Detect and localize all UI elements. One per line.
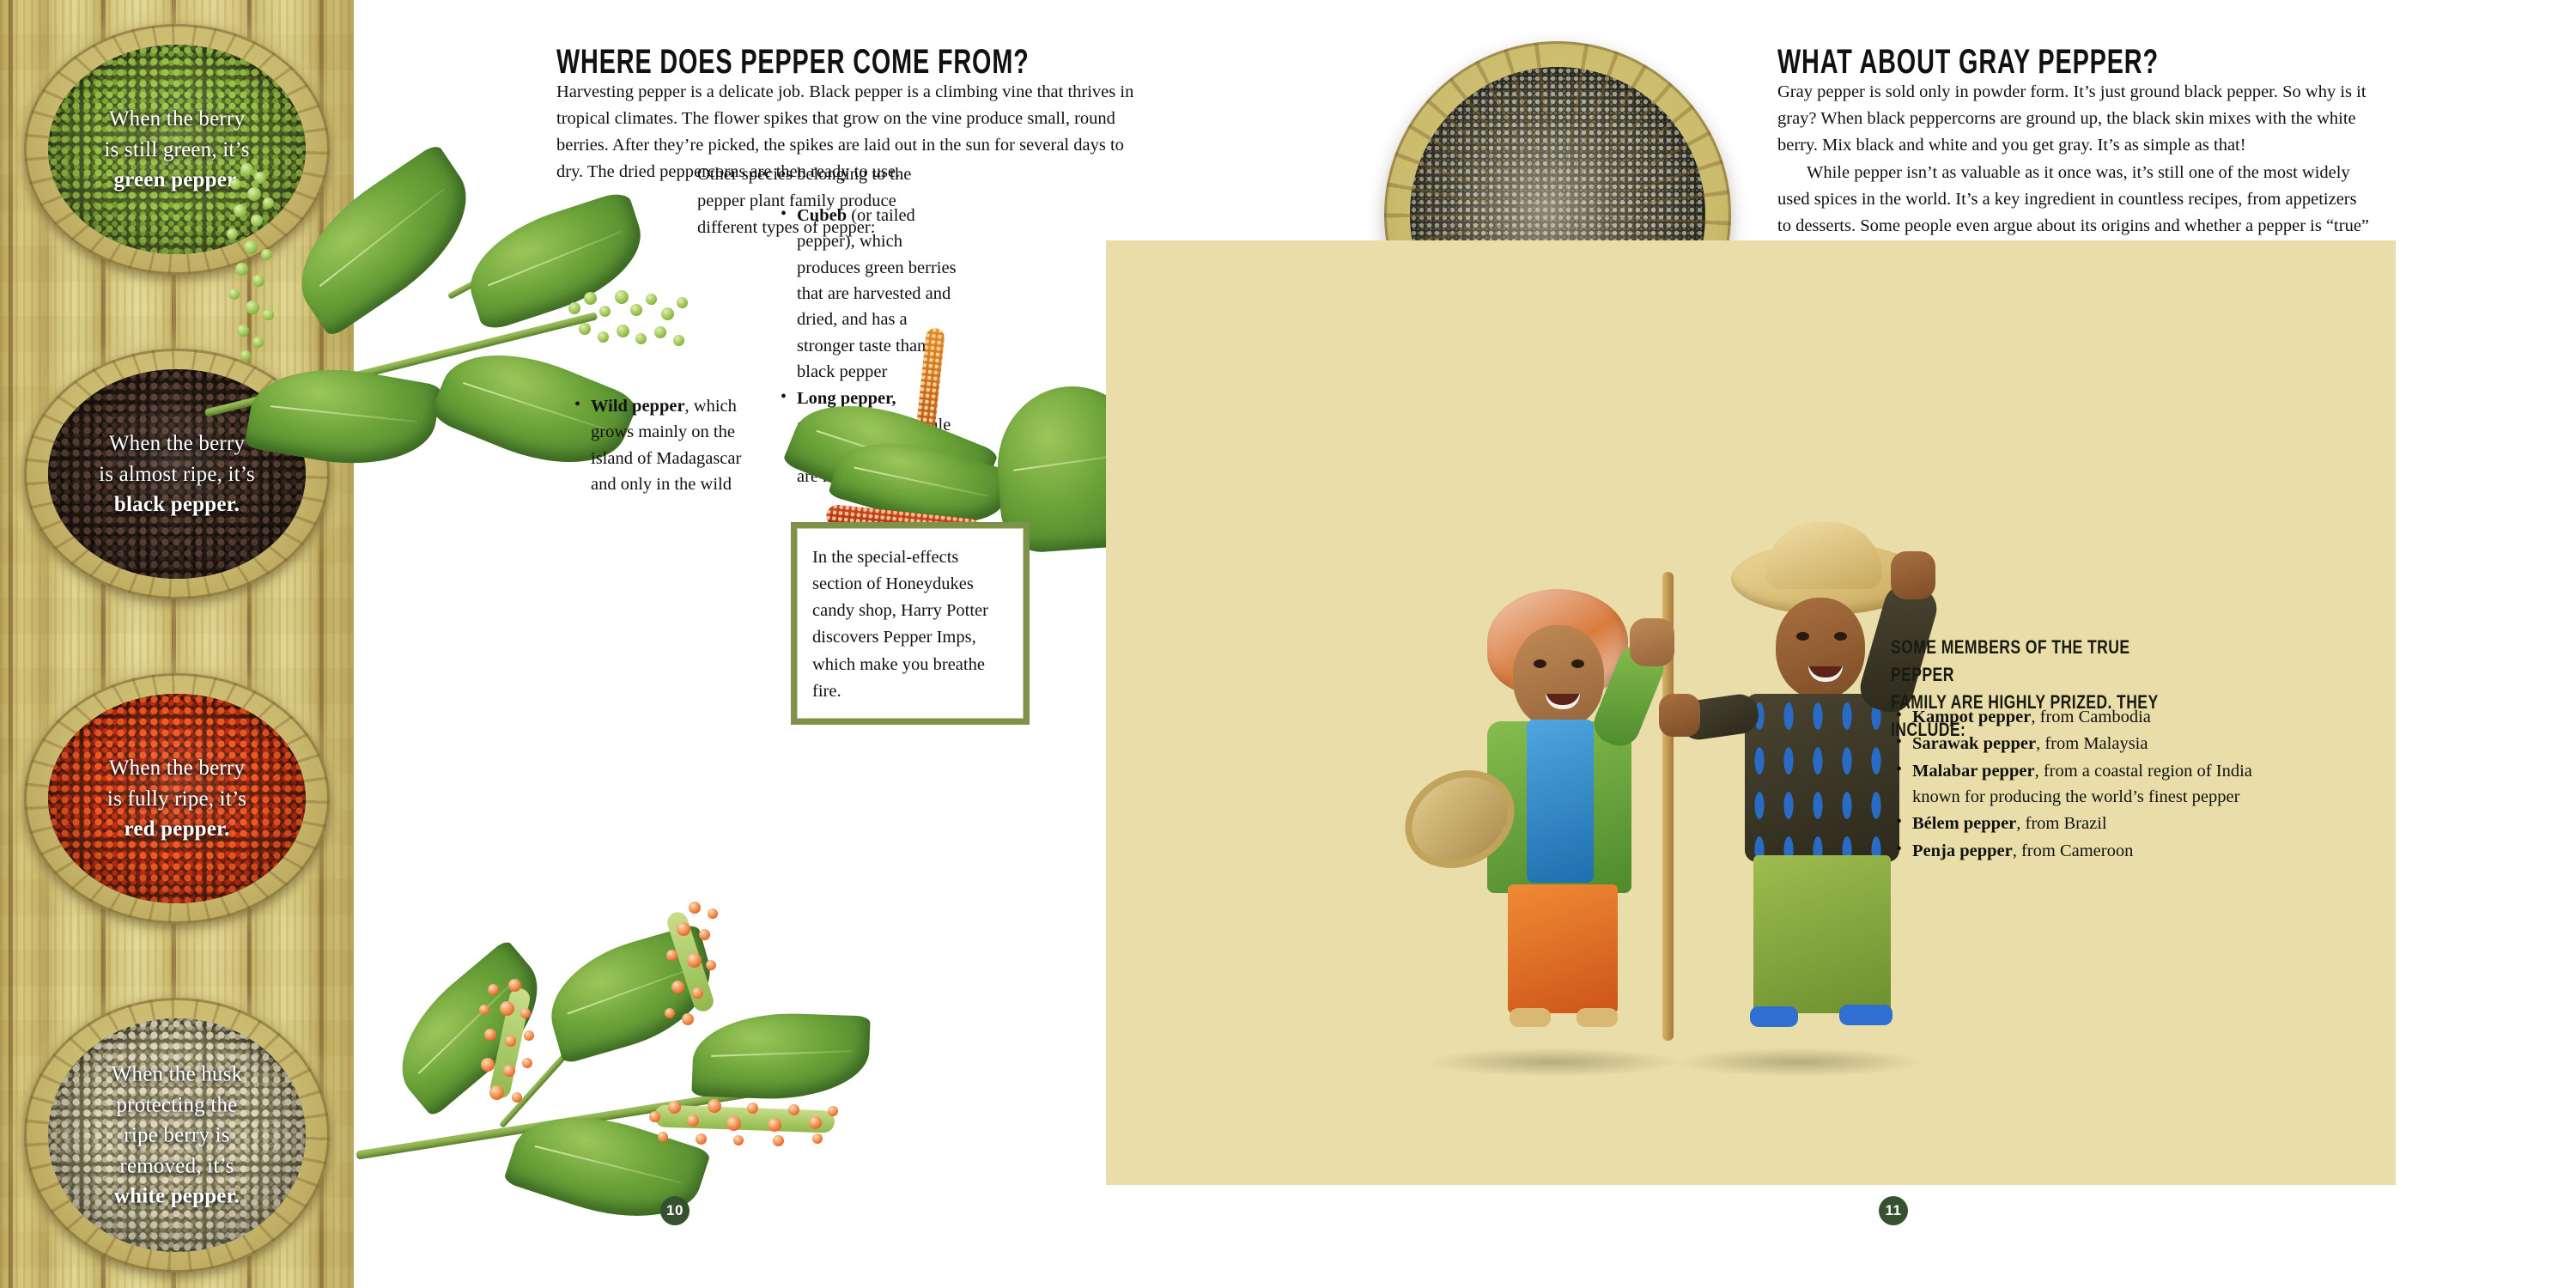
caption-line-2: is still green, it’s	[104, 137, 249, 161]
page-number-left: 10	[660, 1196, 690, 1225]
page-number-value: 10	[666, 1202, 683, 1219]
caption-bold: green pepper.	[113, 168, 240, 191]
sandal	[1577, 1008, 1618, 1027]
caption-line-2: is fully ripe, it’s	[107, 787, 246, 810]
panel-heading-line-1: SOME MEMBERS OF THE TRUE PEPPER	[1891, 636, 2130, 685]
page-number-right: 11	[1879, 1196, 1908, 1225]
page-title-what-about-gray-pepper: WHAT ABOUT GRAY PEPPER?	[1777, 43, 2159, 82]
blue-sandal	[1839, 1005, 1893, 1025]
wild-pepper-plant-illustration	[216, 859, 869, 1236]
wild-pepper-berries	[644, 1097, 850, 1147]
list-item: Wild pepper, which grows mainly on the i…	[572, 393, 769, 497]
red-pepper-caption: When the berry is fully ripe, it’s red p…	[24, 753, 330, 845]
blue-sandal	[1750, 1006, 1798, 1027]
book-spread: When the berry is still green, it’s gree…	[0, 0, 2576, 1288]
fact-box-text: In the special-effects section of Honeyd…	[812, 544, 1008, 705]
true-pepper-family-list: Kampot pepper, from Cambodia Sarawak pep…	[1893, 704, 2297, 865]
eye	[1534, 659, 1546, 668]
pepper-name: Bélem pepper	[1912, 814, 2016, 833]
wild-pepper-berries	[663, 902, 726, 1030]
caption-bold: red pepper.	[124, 817, 229, 841]
cubeb-berry-spike	[225, 163, 285, 378]
species-term: Wild pepper	[591, 397, 685, 416]
list-item: Kampot pepper, from Cambodia	[1893, 704, 2297, 730]
pepper-name: Penja pepper	[1912, 841, 2013, 860]
right-paragraph-1: Gray pepper is sold only in powder form.…	[1777, 79, 2370, 159]
green-pants	[1753, 855, 1891, 1013]
pepper-origin: , from Malaysia	[2036, 734, 2148, 753]
caption-line-1: When the berry	[109, 756, 245, 780]
list-item: Penja pepper, from Cameroon	[1893, 838, 2297, 864]
straw-hat-crown	[1765, 522, 1882, 589]
list-item: Bélem pepper, from Brazil	[1893, 811, 2297, 836]
pepper-name: Sarawak pepper	[1912, 734, 2036, 753]
pepper-name: Kampot pepper	[1912, 708, 2031, 726]
list-item: Sarawak pepper, from Malaysia	[1893, 731, 2297, 756]
eye	[1571, 659, 1584, 668]
hand-on-stick	[1659, 694, 1700, 737]
orange-pants	[1508, 884, 1618, 1013]
harry-potter-fact-box: In the special-effects section of Honeyd…	[791, 522, 1030, 725]
eye	[1796, 632, 1809, 641]
pepper-origin: , from Cameroon	[2013, 841, 2134, 860]
pepper-name: Malabar pepper	[1912, 762, 2035, 781]
page-number-value: 11	[1886, 1202, 1902, 1219]
eye	[1834, 632, 1847, 641]
cubeb-berry-cluster	[568, 283, 714, 361]
caption-line-1: When the berry	[109, 107, 245, 131]
two-children-farmers-illustration	[1408, 515, 1941, 1099]
species-term: Cubeb	[797, 206, 847, 225]
raised-hand	[1891, 551, 1935, 599]
list-item: Malabar pepper, from a coastal region of…	[1893, 758, 2297, 811]
child-face	[1513, 625, 1604, 728]
sandal	[1510, 1008, 1551, 1027]
wild-pepper-berries	[479, 979, 543, 1116]
pepper-origin: , from Brazil	[2016, 814, 2106, 833]
patterned-shirt	[1745, 694, 1899, 862]
raised-hand	[1630, 618, 1674, 666]
child-shadow	[1674, 1048, 1923, 1077]
caption-line-3: ripe berry is	[124, 1123, 229, 1146]
caption-bold: black pepper.	[114, 493, 240, 516]
blue-shirt	[1527, 720, 1594, 883]
pepper-origin: , from Cambodia	[2031, 708, 2151, 726]
child-face	[1776, 598, 1865, 699]
caption-line-1: When the berry	[109, 432, 245, 455]
child-shadow	[1425, 1048, 1683, 1077]
wild-pepper-bullet-list: Wild pepper, which grows mainly on the i…	[572, 393, 769, 498]
caption-line-2: is almost ripe, it’s	[99, 462, 255, 485]
